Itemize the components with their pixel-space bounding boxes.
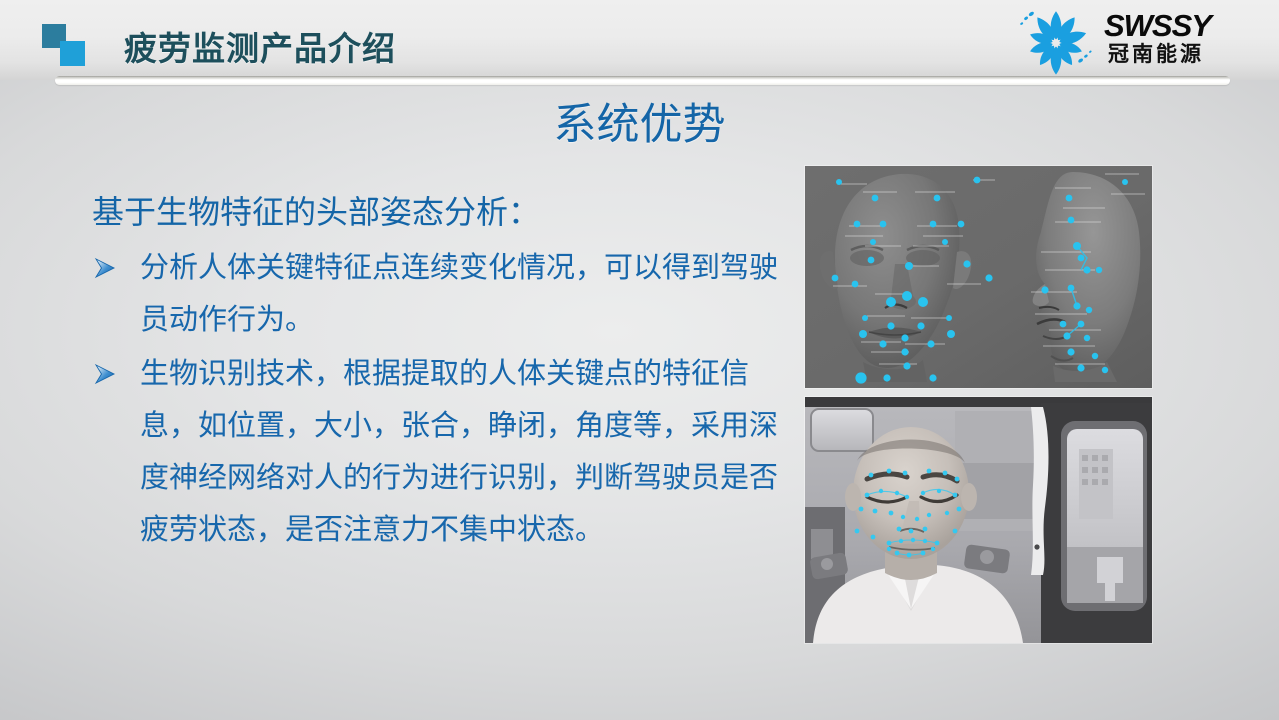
- logo-brand-text: SWSSY: [1104, 10, 1211, 41]
- arrow-bullet-icon: [92, 242, 122, 294]
- bullet-item-text: 生物识别技术，根据提取的人体关键点的特征信息，如位置，大小，张合，睁闭，角度等，…: [140, 348, 782, 556]
- swssy-flower-logo-icon: [1012, 6, 1100, 76]
- bullet-item-text: 分析人体关键特征点连续变化情况，可以得到驾驶员动作行为。: [140, 242, 782, 346]
- slide-header: 疲劳监测产品介绍: [0, 0, 1279, 80]
- body-lead-text: 基于生物特征的头部姿态分析：: [92, 192, 782, 232]
- slide-title: 系统优势: [0, 90, 1279, 152]
- bullet-list: 分析人体关键特征点连续变化情况，可以得到驾驶员动作行为。 生物识别技术，根据提取…: [92, 242, 782, 556]
- driver-fatigue-detection-image: [805, 397, 1152, 643]
- face-landmark-3d-model-image: [805, 166, 1152, 388]
- header-decor-square-light: [60, 41, 85, 66]
- presentation-slide: 疲劳监测产品介绍: [0, 0, 1279, 720]
- company-logo: SWSSY 冠南能源: [1012, 4, 1267, 76]
- header-title: 疲劳监测产品介绍: [124, 22, 396, 70]
- logo-brand-chinese-text: 冠南能源: [1108, 44, 1204, 65]
- arrow-bullet-icon: [92, 348, 122, 400]
- bullet-item: 分析人体关键特征点连续变化情况，可以得到驾驶员动作行为。: [92, 242, 782, 346]
- header-divider-bar: [55, 76, 1230, 85]
- slide-body: 基于生物特征的头部姿态分析： 分析人体: [92, 192, 782, 558]
- bullet-item: 生物识别技术，根据提取的人体关键点的特征信息，如位置，大小，张合，睁闭，角度等，…: [92, 348, 782, 556]
